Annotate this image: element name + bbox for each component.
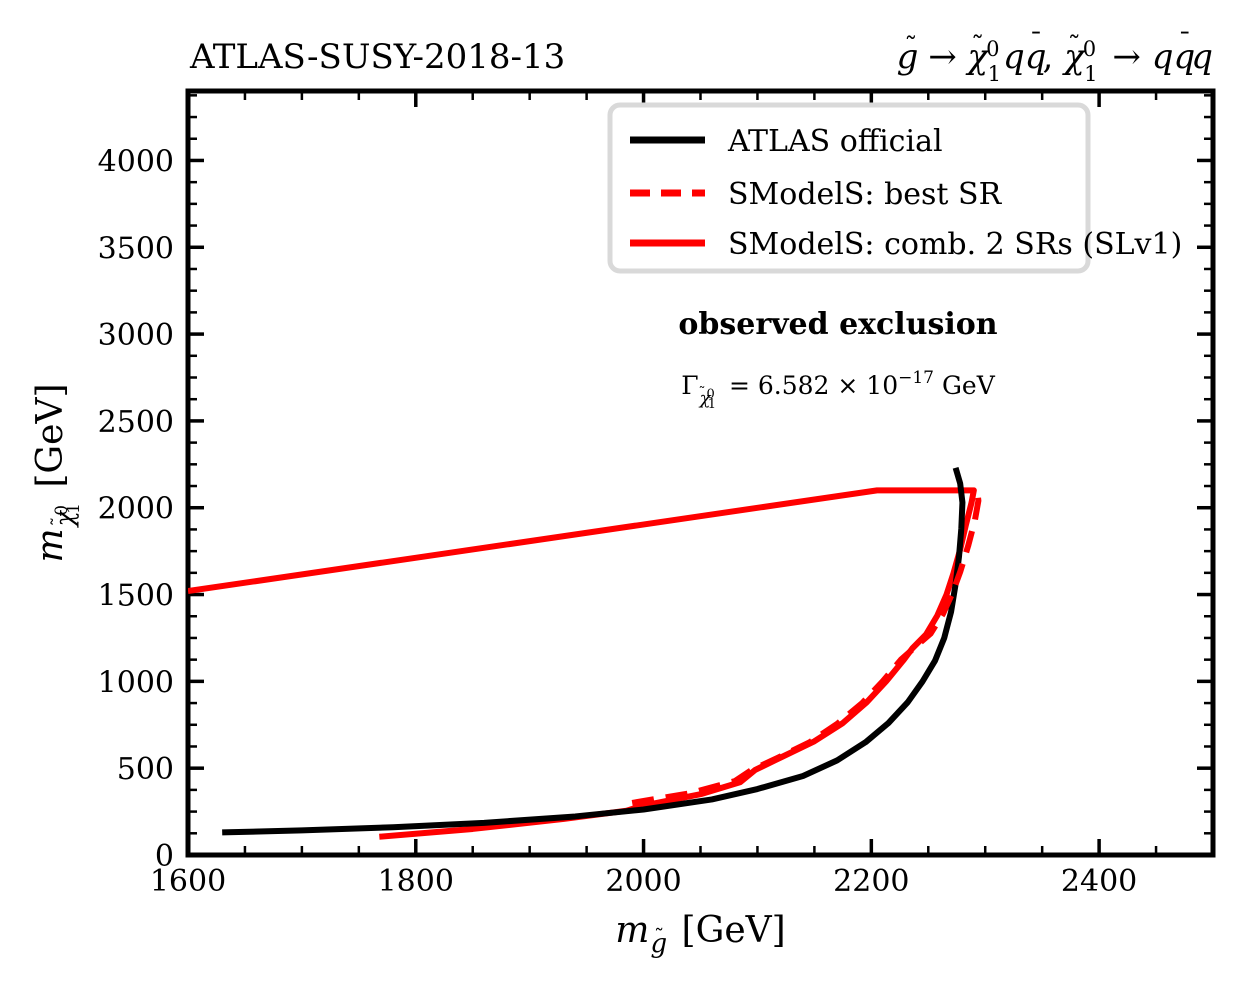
svg-text:1000: 1000 (98, 665, 174, 700)
legend-label-1: SModelS: best SR (728, 177, 1003, 212)
svg-text:1500: 1500 (98, 579, 174, 614)
figure-root: ATLAS-SUSY-2018-13 g˜ → χ˜01qq¯, χ˜01 → … (0, 0, 1250, 1000)
svg-text:2000: 2000 (605, 864, 681, 899)
svg-text:Γχ˜01 = 6.582 × 10−17 GeV: Γχ˜01 = 6.582 × 10−17 GeV (681, 368, 996, 412)
svg-text:2500: 2500 (98, 405, 174, 440)
svg-text:3000: 3000 (98, 318, 174, 353)
svg-text:1800: 1800 (378, 864, 454, 899)
x-axis-title: mg˜ [GeV] (615, 910, 785, 959)
legend: ATLAS officialSModelS: best SRSModelS: c… (610, 105, 1182, 271)
svg-text:3500: 3500 (98, 231, 174, 266)
curve-atlas-official (222, 468, 962, 833)
svg-text:mg˜ [GeV]: mg˜ [GeV] (615, 910, 785, 959)
curve-smodels-comb-2-srs-slv1 (188, 490, 974, 836)
svg-text:500: 500 (117, 752, 174, 787)
observed-exclusion-label: observed exclusion (678, 307, 997, 342)
svg-text:g˜ → χ˜01qq¯, χ˜01 → qq¯q: g˜ → χ˜01qq¯, χ˜01 → qq¯q (897, 28, 1213, 86)
neutralino-width-label: Γχ˜01 = 6.582 × 10−17 GeV (681, 368, 996, 412)
svg-text:2400: 2400 (1061, 864, 1137, 899)
svg-text:2000: 2000 (98, 492, 174, 527)
decay-chain-label: g˜ → χ˜01qq¯, χ˜01 → qq¯q (897, 28, 1213, 86)
legend-label-2: SModelS: comb. 2 SRs (SLv1) (728, 227, 1182, 262)
svg-text:mχ˜01 [GeV]: mχ˜01 [GeV] (30, 383, 84, 562)
curve-smodels-best-sr (632, 490, 978, 803)
svg-text:0: 0 (155, 839, 174, 874)
svg-text:2200: 2200 (833, 864, 909, 899)
data-curves (188, 468, 978, 837)
exclusion-plot-svg: ATLAS-SUSY-2018-13 g˜ → χ˜01qq¯, χ˜01 → … (0, 0, 1250, 1000)
y-axis-title: mχ˜01 [GeV] (30, 383, 84, 562)
svg-text:4000: 4000 (98, 144, 174, 179)
legend-label-0: ATLAS official (727, 124, 943, 159)
analysis-id-title: ATLAS-SUSY-2018-13 (189, 37, 565, 77)
